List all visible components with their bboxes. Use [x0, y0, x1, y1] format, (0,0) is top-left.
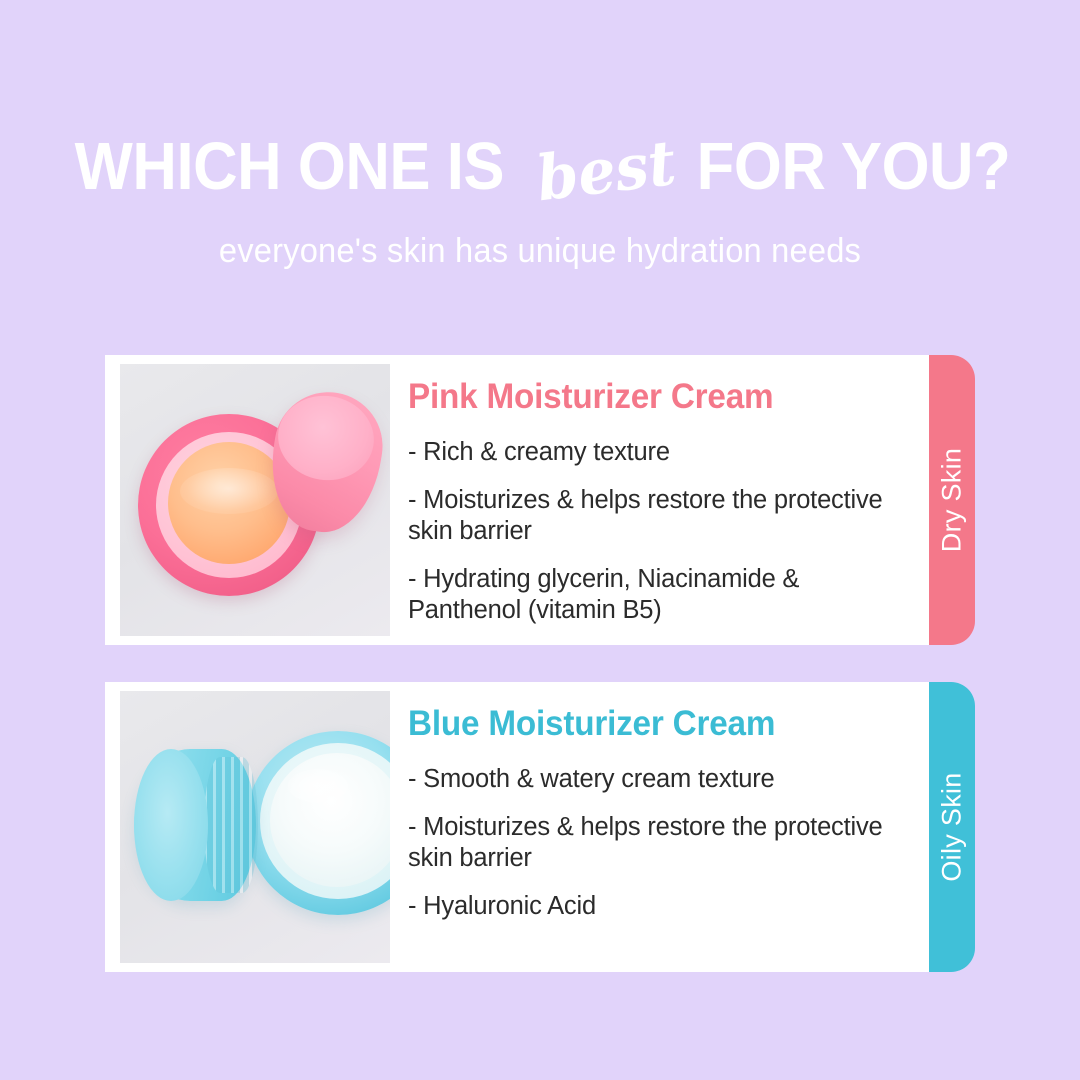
product-card-blue[interactable]: Blue Moisturizer Cream - Smooth & watery… [105, 682, 975, 972]
product-title: Blue Moisturizer Cream [408, 704, 882, 744]
product-text-block: Blue Moisturizer Cream - Smooth & watery… [390, 682, 929, 922]
product-title: Pink Moisturizer Cream [408, 377, 882, 417]
product-card-body: Blue Moisturizer Cream - Smooth & watery… [105, 682, 929, 972]
product-card-body: Pink Moisturizer Cream - Rich & creamy t… [105, 355, 929, 645]
blue-cream-highlight-icon [288, 769, 348, 803]
product-bullet: - Moisturizes & helps restore the protec… [408, 812, 907, 874]
blue-jar-lid-face-icon [134, 749, 208, 901]
headline-script-word: best [532, 124, 679, 218]
product-bullet: - Rich & creamy texture [408, 437, 907, 468]
product-bullet: - Smooth & watery cream texture [408, 764, 907, 795]
blue-jar-photo [120, 691, 390, 963]
pink-cream-highlight-icon [180, 468, 278, 514]
page-subtitle: everyone's skin has unique hydration nee… [22, 232, 1059, 271]
product-text-block: Pink Moisturizer Cream - Rich & creamy t… [390, 355, 929, 626]
blue-jar-lid-threads-icon [204, 757, 258, 893]
header: WHICH ONE ISbestFOR YOU? everyone's skin… [0, 0, 1080, 271]
headline-part1: WHICH ONE IS [75, 128, 504, 206]
skin-type-tab-oily[interactable]: Oily Skin [929, 682, 975, 972]
skin-type-tab-dry[interactable]: Dry Skin [929, 355, 975, 645]
pink-jar-photo [120, 364, 390, 636]
product-bullet: - Hydrating glycerin, Niacinamide & Pant… [408, 564, 907, 626]
product-bullet: - Moisturizes & helps restore the protec… [408, 485, 907, 547]
skin-type-tab-label: Oily Skin [937, 772, 968, 881]
page-title: WHICH ONE ISbestFOR YOU? [0, 128, 1080, 206]
product-bullet: - Hyaluronic Acid [408, 891, 907, 922]
headline-part2: FOR YOU? [697, 128, 1011, 206]
skin-type-tab-label: Dry Skin [937, 448, 968, 552]
product-card-pink[interactable]: Pink Moisturizer Cream - Rich & creamy t… [105, 355, 975, 645]
